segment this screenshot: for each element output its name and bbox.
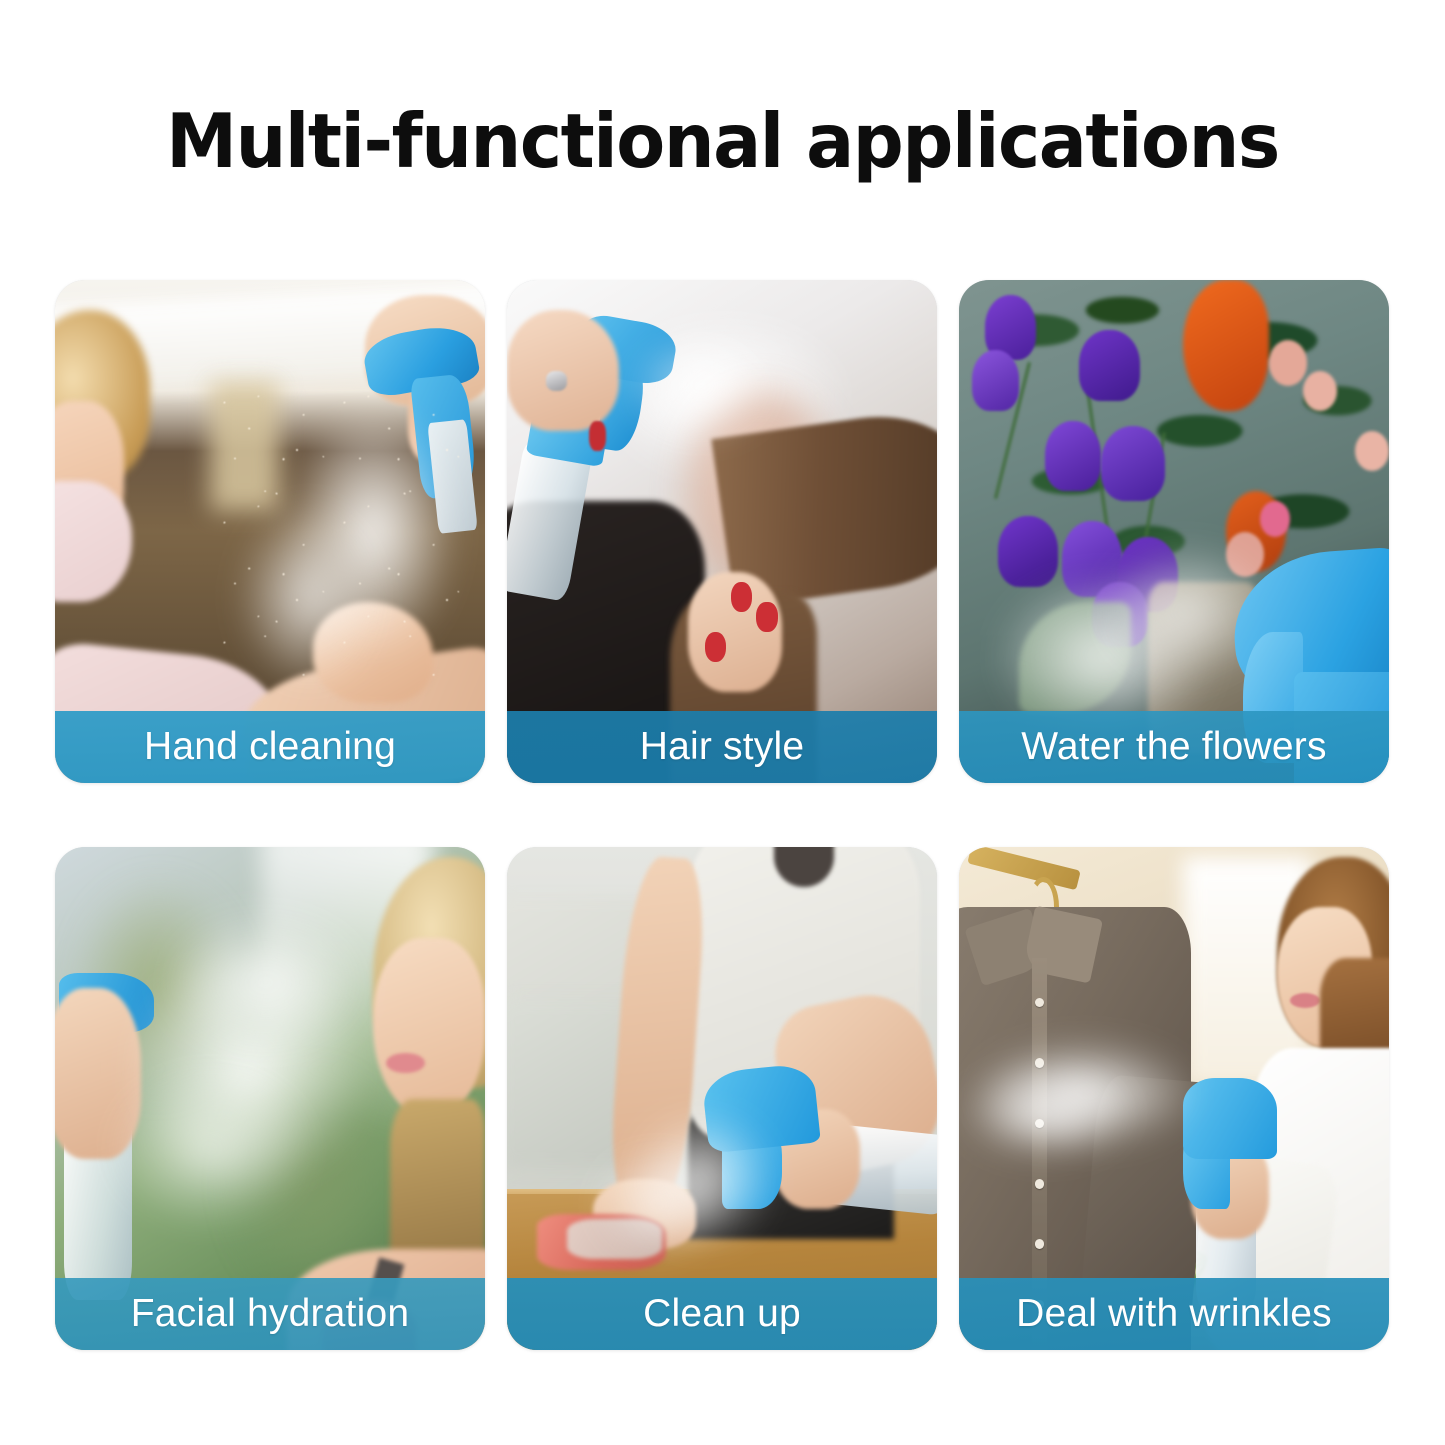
photo-hair-style <box>507 280 937 783</box>
page-title: Multi-functional applications <box>36 104 1409 179</box>
card-caption-water-the-flowers: Water the flowers <box>959 711 1389 783</box>
application-card-hair-style[interactable]: Hair style <box>507 280 937 783</box>
card-caption-clean-up: Clean up <box>507 1278 937 1350</box>
application-card-hand-cleaning[interactable]: Hand cleaning <box>55 280 485 783</box>
application-card-water-the-flowers[interactable]: Water the flowers <box>959 280 1389 783</box>
card-caption-hair-style: Hair style <box>507 711 937 783</box>
application-card-deal-with-wrinkles[interactable]: Deal with wrinkles <box>959 847 1389 1350</box>
application-card-grid: Hand cleaning Hair s <box>55 280 1390 1370</box>
photo-hand-cleaning <box>55 280 485 783</box>
photo-clean-up <box>507 847 937 1350</box>
photo-deal-with-wrinkles <box>959 847 1389 1350</box>
photo-water-the-flowers <box>959 280 1389 783</box>
infographic-page: Multi-functional applications <box>0 0 1445 1445</box>
photo-facial-hydration <box>55 847 485 1350</box>
application-card-facial-hydration[interactable]: Facial hydration <box>55 847 485 1350</box>
card-caption-deal-with-wrinkles: Deal with wrinkles <box>959 1278 1389 1350</box>
card-caption-facial-hydration: Facial hydration <box>55 1278 485 1350</box>
application-card-clean-up[interactable]: Clean up <box>507 847 937 1350</box>
card-caption-hand-cleaning: Hand cleaning <box>55 711 485 783</box>
